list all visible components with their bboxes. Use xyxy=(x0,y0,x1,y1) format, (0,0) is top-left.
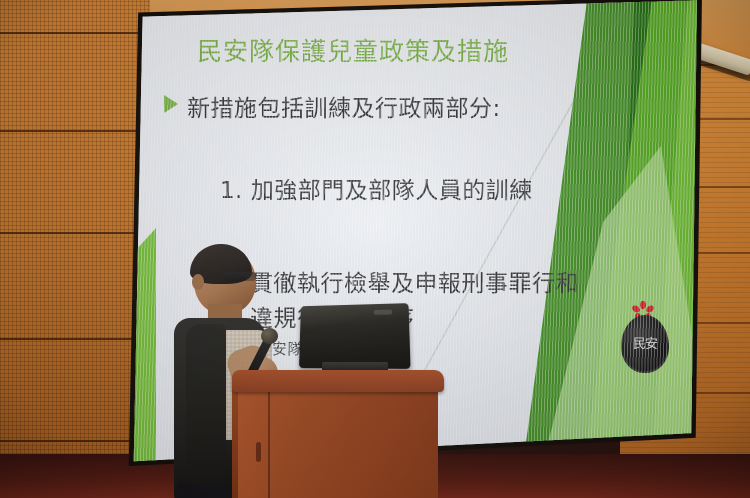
confidence-monitor xyxy=(298,304,408,376)
podium xyxy=(232,370,444,498)
speaker-ear xyxy=(192,274,204,290)
slide-item-1-text: 加強部門及部隊人員的訓練 xyxy=(251,178,533,204)
emblem-badge: 民安 xyxy=(621,315,669,373)
triangle-right-icon xyxy=(164,95,178,113)
slide-bullet-row: 新措施包括訓練及行政兩部分: xyxy=(164,89,634,123)
emblem-badge-text: 民安 xyxy=(633,339,657,350)
slide-item-1: 1. 加強部門及部隊人員的訓練 xyxy=(220,171,533,205)
podium-seam xyxy=(268,390,270,498)
slide-item-2-line1: 貫徹執行檢舉及申報刑事罪行和 xyxy=(250,264,579,298)
monitor-screen xyxy=(299,303,411,369)
slide-title: 民安隊保護兒童政策及措施 xyxy=(197,32,627,68)
podium-top xyxy=(232,370,444,392)
microphone-head xyxy=(261,328,278,344)
glasses-icon xyxy=(224,272,256,281)
slide-bullet-text: 新措施包括訓練及行政兩部分: xyxy=(187,89,501,123)
civil-aid-service-emblem: 民安 xyxy=(617,301,669,371)
presentation-hall-photo: 民安隊保護兒童政策及措施 新措施包括訓練及行政兩部分: 1. 加強部門及部隊人員… xyxy=(0,0,750,498)
speaker-vest-front xyxy=(186,324,226,498)
podium-latch xyxy=(256,442,261,462)
slide-item-1-number: 1. xyxy=(220,178,243,204)
monitor-logo xyxy=(374,310,392,315)
